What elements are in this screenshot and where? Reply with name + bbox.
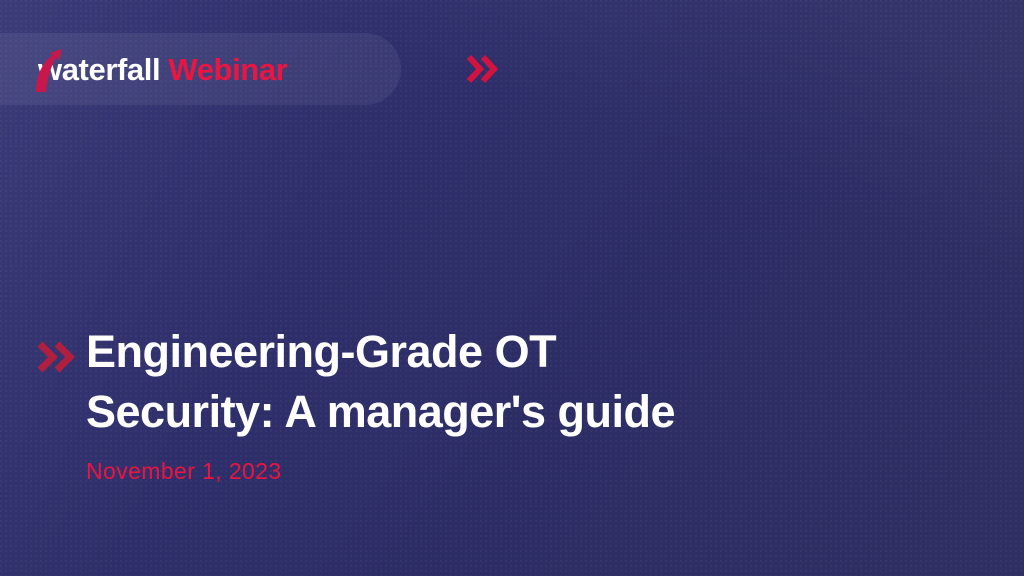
chevron-double-right-icon [36,337,80,377]
page-title-line2: Security: A manager's guide [86,382,826,442]
chevron-double-right-icon [466,52,500,86]
brand-name-secondary: Webinar [168,52,287,87]
webinar-banner: ENGINEERING GRADE OT SECURITY A MANAGER'… [0,0,1024,576]
brand-logo-text: waterfall Webinar [38,54,287,85]
brand-logo-pill[interactable]: waterfall Webinar [0,33,401,105]
page-title: Engineering-Grade OT Security: A manager… [86,322,826,442]
waterfall-swoosh-icon [32,47,66,93]
page-title-line1: Engineering-Grade OT [86,322,826,382]
headline-block: Engineering-Grade OT Security: A manager… [86,322,826,485]
webinar-date: November 1, 2023 [86,458,826,485]
